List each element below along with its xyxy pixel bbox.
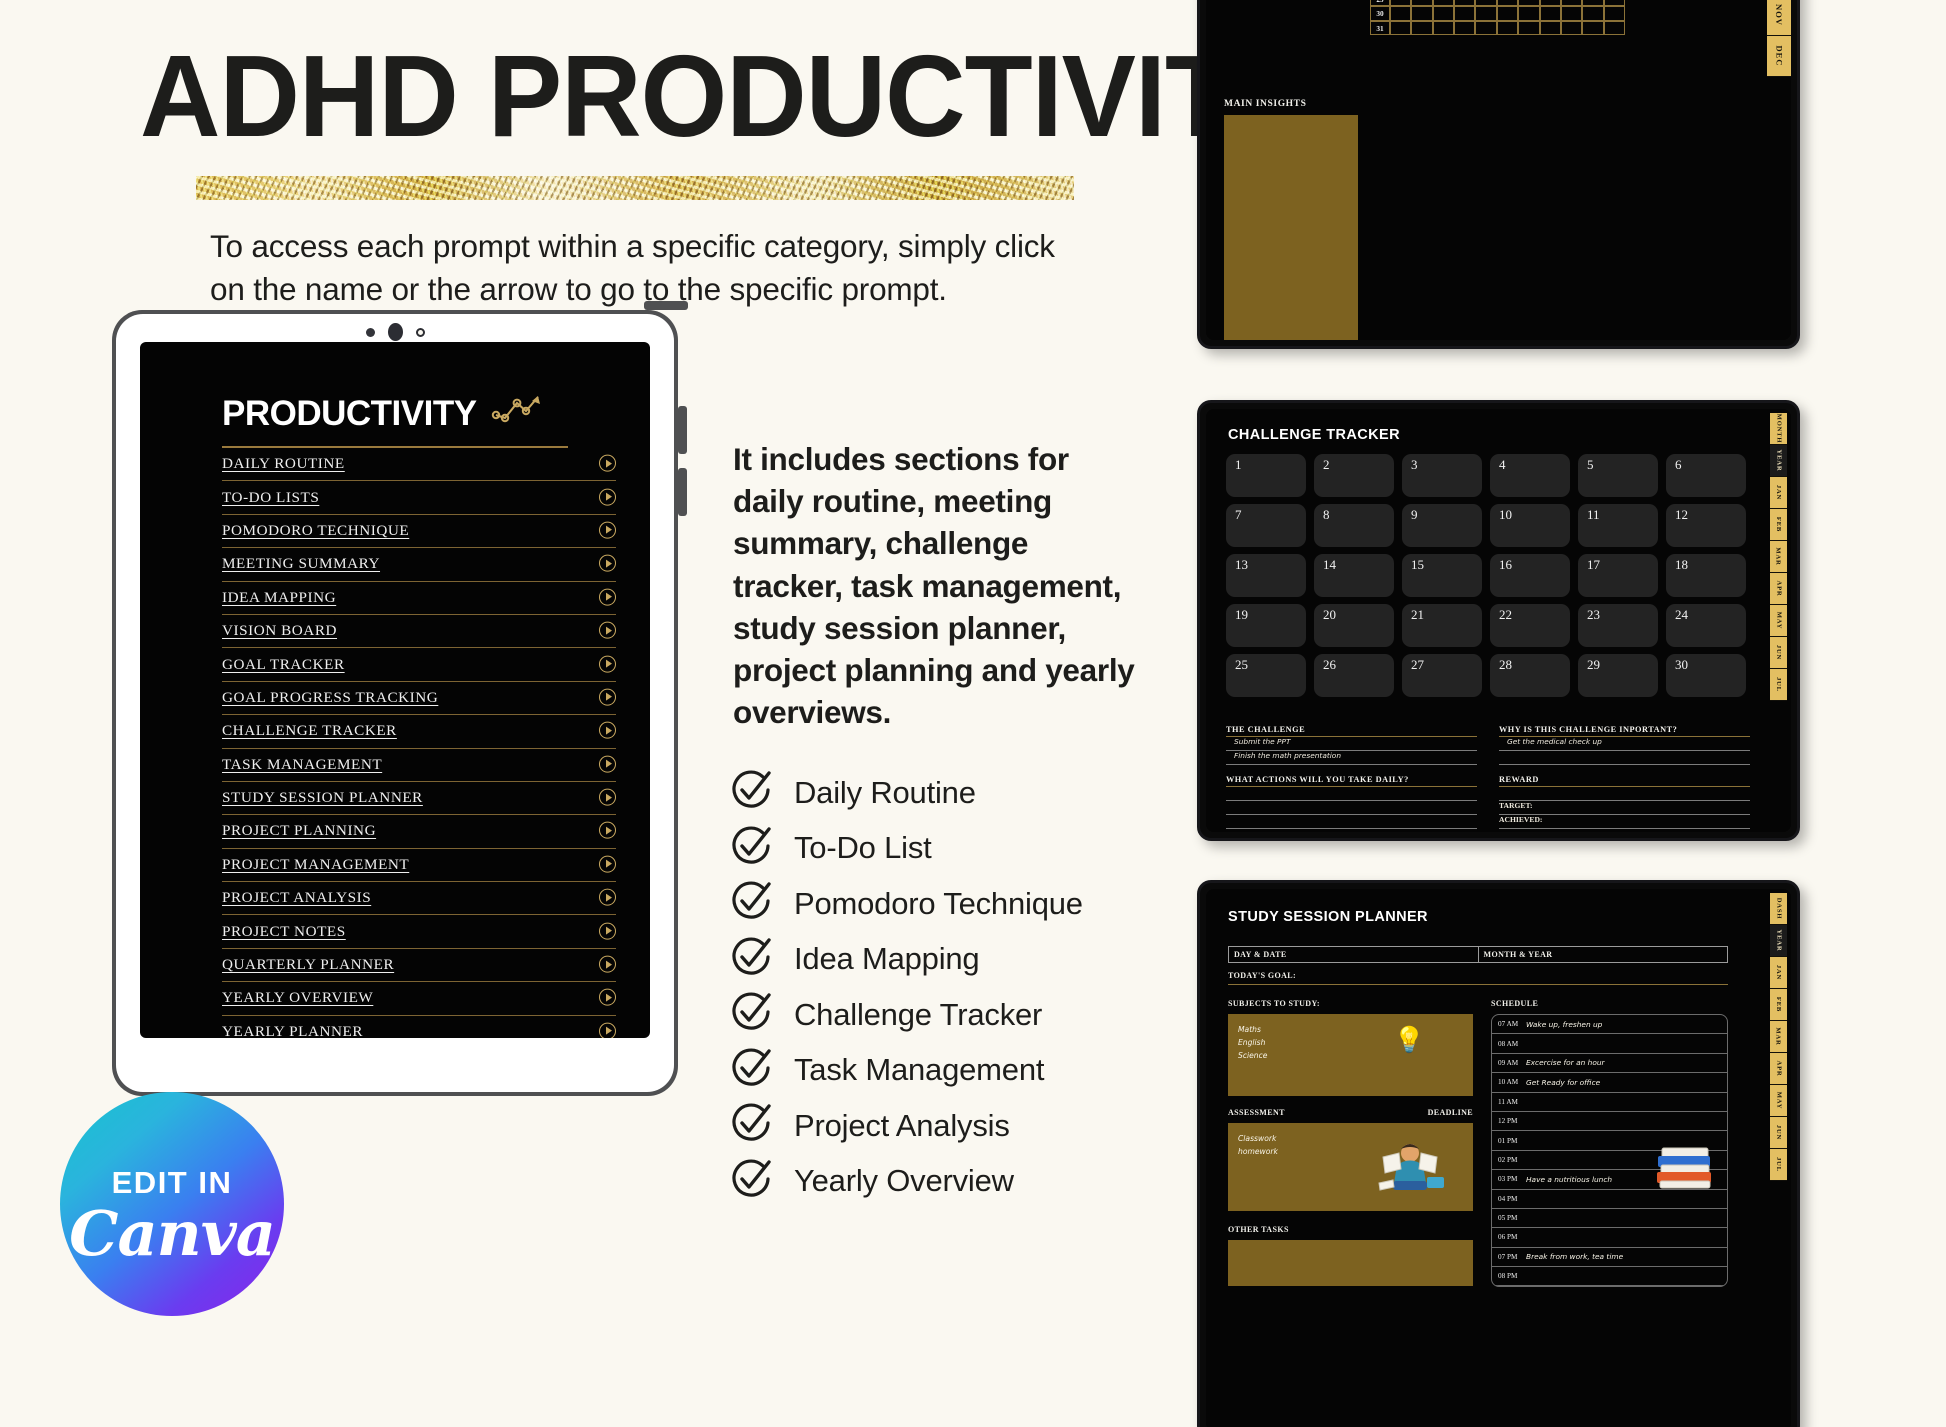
menu-item-project-analysis[interactable]: PROJECT ANALYSIS (222, 882, 616, 915)
challenge-day-cell[interactable]: 19 (1226, 604, 1306, 647)
description-paragraph: It includes sections for daily routine, … (733, 438, 1143, 733)
challenge-tab-label: FEB (1775, 517, 1782, 532)
preview-challenge-tracker: CHALLENGE TRACKER 1234567891011121314151… (1197, 400, 1800, 841)
other-tasks-box[interactable] (1228, 1240, 1473, 1286)
arrow-right-circle-icon[interactable] (599, 588, 616, 605)
tablet-volume-down-button (678, 468, 687, 516)
schedule-time: 09 AM (1492, 1059, 1526, 1067)
grid-cell[interactable] (1454, 6, 1475, 20)
challenge-day-cell[interactable]: 9 (1402, 504, 1482, 547)
menu-item-label: QUARTERLY PLANNER (222, 956, 394, 974)
arrow-right-circle-icon[interactable] (599, 488, 616, 505)
menu-item-label: YEARLY PLANNER (222, 1023, 363, 1038)
arrow-right-circle-icon[interactable] (599, 922, 616, 939)
trending-up-icon (491, 391, 545, 428)
checklist-item: To-Do List (730, 821, 1083, 877)
main-insights-label: MAIN INSIGHTS (1224, 99, 1307, 109)
preview-yearly-overview: MAIN INSIGHTS 45678910111213141516171819… (1197, 0, 1800, 349)
study-tab-dash[interactable]: DASH (1770, 893, 1787, 925)
grid-cell[interactable] (1604, 21, 1625, 35)
schedule-row[interactable]: 12 PM (1492, 1112, 1727, 1131)
menu-item-project-management[interactable]: PROJECT MANAGEMENT (222, 849, 616, 882)
arrow-right-circle-icon[interactable] (599, 722, 616, 739)
spacer (1226, 765, 1477, 775)
daily-actions-line-2[interactable] (1226, 801, 1477, 815)
schedule-row[interactable]: 08 PM (1492, 1267, 1727, 1286)
schedule-row[interactable]: 11 AM (1492, 1093, 1727, 1112)
student-studying-icon (1371, 1131, 1449, 1198)
arrow-right-circle-icon[interactable] (599, 655, 616, 672)
checklist-item: Task Management (730, 1043, 1083, 1099)
challenge-form-columns: THE CHALLENGE Submit the PPT Finish the … (1226, 725, 1750, 832)
menu-item-project-planning[interactable]: PROJECT PLANNING (222, 815, 616, 848)
schedule-row[interactable]: 07 PMBreak from work, tea time (1492, 1248, 1727, 1267)
check-circle-icon (730, 991, 772, 1038)
study-tab-strip: DASHYEARJANFEBMARAPRMAYJUNJUL (1770, 893, 1787, 1427)
why-important-line-1[interactable]: Get the medical check up (1499, 737, 1750, 751)
subjects-list: MathsEnglishScience (1238, 1023, 1463, 1062)
grid-cell[interactable] (1604, 6, 1625, 20)
yearly-grid-row[interactable]: 30 (1370, 6, 1625, 20)
month-tab-dec[interactable]: DEC (1767, 36, 1791, 77)
schedule-activity[interactable]: Break from work, tea time (1526, 1252, 1623, 1261)
schedule-row[interactable]: 08 AM (1492, 1034, 1727, 1053)
grid-cell[interactable] (1433, 21, 1454, 35)
checklist-item-label: Idea Mapping (794, 941, 979, 977)
schedule-activity[interactable]: Have a nutritious lunch (1526, 1175, 1612, 1184)
schedule-row[interactable]: 09 AMExcercise for an hour (1492, 1054, 1727, 1073)
challenge-tab-label: YEAR (1775, 450, 1782, 472)
schedule-time: 11 AM (1492, 1098, 1526, 1106)
challenge-tab-apr[interactable]: APR (1770, 573, 1787, 605)
schedule-time: 07 AM (1492, 1020, 1526, 1028)
challenge-day-cell[interactable]: 5 (1578, 454, 1658, 497)
menu-item-label: DAILY ROUTINE (222, 455, 345, 473)
challenge-tab-label: APR (1775, 581, 1782, 597)
challenge-right-column: WHY IS THIS CHALLENGE INPORTANT? Get the… (1499, 725, 1750, 832)
grid-cell[interactable] (1454, 21, 1475, 35)
challenge-day-cell[interactable]: 7 (1226, 504, 1306, 547)
menu-item-daily-routine[interactable]: DAILY ROUTINE (222, 448, 616, 481)
check-circle-icon (730, 880, 772, 927)
checklist-item-label: Challenge Tracker (794, 997, 1042, 1033)
grid-cell[interactable] (1390, 6, 1411, 20)
challenge-tab-jul[interactable]: JUL (1770, 669, 1787, 701)
checklist-item: Idea Mapping (730, 932, 1083, 988)
spacer (1226, 829, 1477, 832)
sensor-icon (366, 328, 375, 337)
study-right-column: SCHEDULE 07 AMWake up, freshen up08 AM09… (1491, 999, 1728, 1287)
arrow-right-circle-icon[interactable] (599, 856, 616, 873)
grid-cell[interactable] (1475, 6, 1496, 20)
menu-item-label: YEARLY OVERVIEW (222, 989, 373, 1007)
schedule-time: 10 AM (1492, 1078, 1526, 1086)
grid-cell[interactable] (1411, 6, 1432, 20)
poster-canvas: ADHD PRODUCTIVITY To access each prompt … (0, 0, 1946, 1427)
preview-study-screen: STUDY SESSION PLANNER DAY & DATE MONTH &… (1206, 889, 1791, 1427)
menu-item-label: PROJECT NOTES (222, 923, 346, 941)
productivity-menu: DAILY ROUTINETO-DO LISTSPOMODORO TECHNIQ… (140, 448, 650, 1038)
light-sensor-icon (416, 328, 425, 337)
challenge-day-cell[interactable]: 8 (1314, 504, 1394, 547)
menu-item-meeting-summary[interactable]: MEETING SUMMARY (222, 548, 616, 581)
screen-title: PRODUCTIVITY (222, 394, 477, 434)
challenge-tab-jun[interactable]: JUN (1770, 637, 1787, 669)
study-tab-feb[interactable]: FEB (1770, 989, 1787, 1021)
schedule-activity[interactable]: Excercise for an hour (1526, 1058, 1605, 1067)
arrow-right-circle-icon[interactable] (599, 989, 616, 1006)
check-circle-icon (730, 1158, 772, 1205)
assessment-box[interactable]: Classworkhomework (1228, 1123, 1473, 1211)
menu-item-label: PROJECT MANAGEMENT (222, 856, 409, 874)
grid-cell[interactable] (1561, 6, 1582, 20)
arrow-right-circle-icon[interactable] (599, 956, 616, 973)
the-challenge-line-1[interactable]: Submit the PPT (1226, 737, 1477, 751)
the-challenge-label: THE CHALLENGE (1226, 725, 1477, 737)
study-tab-mar[interactable]: MAR (1770, 1021, 1787, 1053)
study-date-row: DAY & DATE MONTH & YEAR (1228, 946, 1728, 963)
study-tab-year[interactable]: YEAR (1770, 925, 1787, 957)
menu-item-label: GOAL TRACKER (222, 656, 345, 674)
menu-item-challenge-tracker[interactable]: CHALLENGE TRACKER (222, 715, 616, 748)
schedule-time: 05 PM (1492, 1214, 1526, 1222)
menu-item-yearly-planner[interactable]: YEARLY PLANNER (222, 1016, 616, 1038)
challenge-day-cell[interactable]: 30 (1666, 654, 1746, 697)
schedule-time: 01 PM (1492, 1137, 1526, 1145)
challenge-tab-label: MAY (1775, 612, 1782, 630)
challenge-day-cell[interactable]: 27 (1402, 654, 1482, 697)
grid-cell[interactable] (1540, 6, 1561, 20)
menu-item-project-notes[interactable]: PROJECT NOTES (222, 915, 616, 948)
page-title: ADHD PRODUCTIVITY (140, 38, 1305, 154)
challenge-day-cell[interactable]: 21 (1402, 604, 1482, 647)
the-challenge-line-2[interactable]: Finish the math presentation (1226, 751, 1477, 765)
grid-cell[interactable] (1518, 6, 1539, 20)
menu-item-label: TO-DO LISTS (222, 489, 319, 507)
challenge-day-cell[interactable]: 17 (1578, 554, 1658, 597)
row-number: 31 (1370, 21, 1390, 35)
grid-cell[interactable] (1561, 21, 1582, 35)
why-important-label: WHY IS THIS CHALLENGE INPORTANT? (1499, 725, 1750, 737)
check-circle-icon (730, 936, 772, 983)
challenge-day-cell[interactable]: 16 (1490, 554, 1570, 597)
month-tab-label: DEC (1774, 45, 1784, 66)
target-label: TARGET: (1499, 801, 1750, 815)
challenge-day-cell[interactable]: 25 (1226, 654, 1306, 697)
preview-challenge-screen: CHALLENGE TRACKER 1234567891011121314151… (1206, 409, 1791, 832)
challenge-tab-year[interactable]: YEAR (1770, 445, 1787, 477)
challenge-day-cell[interactable]: 29 (1578, 654, 1658, 697)
challenge-tab-mar[interactable]: MAR (1770, 541, 1787, 573)
challenge-tab-month[interactable]: MONTH (1770, 413, 1787, 445)
schedule-activity[interactable]: Get Ready for office (1526, 1078, 1600, 1087)
menu-item-study-session-planner[interactable]: STUDY SESSION PLANNER (222, 782, 616, 815)
challenge-day-cell[interactable]: 22 (1490, 604, 1570, 647)
menu-item-label: GOAL PROGRESS TRACKING (222, 689, 438, 707)
study-tab-label: DASH (1775, 898, 1782, 920)
checklist-item-label: Daily Routine (794, 775, 976, 811)
feature-checklist: Daily RoutineTo-Do ListPomodoro Techniqu… (730, 765, 1083, 1209)
checklist-item: Project Analysis (730, 1098, 1083, 1154)
challenge-day-cell[interactable]: 3 (1402, 454, 1482, 497)
schedule-time: 07 PM (1492, 1253, 1526, 1261)
challenge-day-cell[interactable]: 15 (1402, 554, 1482, 597)
menu-item-label: TASK MANAGEMENT (222, 756, 382, 774)
menu-item-quarterly-planner[interactable]: QUARTERLY PLANNER (222, 949, 616, 982)
challenge-tab-label: JUL (1775, 677, 1782, 692)
study-planner-title: STUDY SESSION PLANNER (1228, 909, 1428, 925)
grid-cell[interactable] (1497, 21, 1518, 35)
camera-icon (388, 323, 403, 341)
spacer (1499, 765, 1750, 775)
schedule-row[interactable]: 07 AMWake up, freshen up (1492, 1015, 1727, 1034)
study-tab-label: JAN (1775, 965, 1782, 980)
schedule-time: 08 PM (1492, 1272, 1526, 1280)
menu-item-idea-mapping[interactable]: IDEA MAPPING (222, 582, 616, 615)
challenge-tab-jan[interactable]: JAN (1770, 477, 1787, 509)
grid-cell[interactable] (1411, 21, 1432, 35)
tablet-volume-up-button (678, 406, 687, 454)
grid-cell[interactable] (1497, 6, 1518, 20)
challenge-day-cell[interactable]: 24 (1666, 604, 1746, 647)
arrow-right-circle-icon[interactable] (599, 789, 616, 806)
challenge-day-cell[interactable]: 20 (1314, 604, 1394, 647)
study-tab-apr[interactable]: APR (1770, 1053, 1787, 1085)
reward-label: REWARD (1499, 775, 1750, 787)
challenge-day-cell[interactable]: 18 (1666, 554, 1746, 597)
checklist-item: Pomodoro Technique (730, 876, 1083, 932)
month-tab-strip: FEBMARAPRMAYJUNJULAUGSEPOCTNOVDEC (1767, 0, 1791, 77)
achieved-label: ACHIEVED: (1499, 815, 1750, 829)
month-year-label[interactable]: MONTH & YEAR (1478, 947, 1728, 962)
challenge-day-cell[interactable]: 14 (1314, 554, 1394, 597)
menu-item-label: IDEA MAPPING (222, 589, 336, 607)
challenge-day-cell[interactable]: 12 (1666, 504, 1746, 547)
screen-header: PRODUCTIVITY (140, 394, 650, 434)
checklist-item-label: Yearly Overview (794, 1163, 1014, 1199)
assessment-label: ASSESSMENT (1228, 1108, 1285, 1117)
study-left-column: SUBJECTS TO STUDY: MathsEnglishScience 💡… (1228, 999, 1473, 1286)
menu-item-label: CHALLENGE TRACKER (222, 722, 397, 740)
menu-item-vision-board[interactable]: VISION BOARD (222, 615, 616, 648)
challenge-day-cell[interactable]: 13 (1226, 554, 1306, 597)
menu-item-label: MEETING SUMMARY (222, 555, 380, 573)
checklist-item-label: Pomodoro Technique (794, 886, 1083, 922)
month-tab-nov[interactable]: NOV (1767, 0, 1791, 36)
schedule-row[interactable]: 05 PM (1492, 1209, 1727, 1228)
check-circle-icon (730, 825, 772, 872)
arrow-right-circle-icon[interactable] (599, 689, 616, 706)
menu-item-label: VISION BOARD (222, 622, 337, 640)
menu-item-label: STUDY SESSION PLANNER (222, 789, 423, 807)
deadline-label: DEADLINE (1428, 1108, 1473, 1117)
challenge-day-grid: 1234567891011121314151617181920212223242… (1226, 454, 1746, 697)
menu-item-goal-tracker[interactable]: GOAL TRACKER (222, 648, 616, 681)
checklist-item: Challenge Tracker (730, 987, 1083, 1043)
challenge-tab-strip: MONTHYEARJANFEBMARAPRMAYJUNJUL (1770, 413, 1787, 828)
challenge-day-cell[interactable]: 10 (1490, 504, 1570, 547)
arrow-right-circle-icon[interactable] (599, 755, 616, 772)
day-date-label[interactable]: DAY & DATE (1229, 947, 1478, 962)
tablet-bezel: PRODUCTIVITY DAILY ROUTINETO-DO LIST (116, 314, 674, 1092)
study-tab-label: JUN (1775, 1125, 1782, 1140)
todays-goal-label[interactable]: TODAY'S GOAL: (1228, 971, 1728, 985)
challenge-tracker-title: CHALLENGE TRACKER (1228, 427, 1400, 443)
schedule-row[interactable]: 06 PM (1492, 1228, 1727, 1247)
grid-cell[interactable] (1582, 6, 1603, 20)
main-insights-box (1224, 115, 1358, 340)
daily-actions-label: WHAT ACTIONS WILL YOU TAKE DAILY? (1226, 775, 1477, 787)
other-tasks-label: OTHER TASKS (1228, 1225, 1473, 1234)
assessment-header-row: ASSESSMENT DEADLINE (1228, 1108, 1473, 1117)
daily-actions-line-3[interactable] (1226, 815, 1477, 829)
checklist-item-label: To-Do List (794, 830, 932, 866)
challenge-tab-may[interactable]: MAY (1770, 605, 1787, 637)
tablet-screen: PRODUCTIVITY DAILY ROUTINETO-DO LIST (140, 342, 650, 1038)
challenge-day-cell[interactable]: 1 (1226, 454, 1306, 497)
challenge-tab-label: MAR (1775, 547, 1782, 565)
checklist-item: Daily Routine (730, 765, 1083, 821)
schedule-time: 06 PM (1492, 1233, 1526, 1241)
subject-item[interactable]: Science (1238, 1049, 1463, 1062)
menu-item-label: PROJECT PLANNING (222, 822, 376, 840)
challenge-tab-label: MONTH (1775, 414, 1782, 444)
tablet-mockup: PRODUCTIVITY DAILY ROUTINETO-DO LIST (112, 310, 678, 1096)
challenge-day-cell[interactable]: 26 (1314, 654, 1394, 697)
challenge-day-cell[interactable]: 23 (1578, 604, 1658, 647)
study-tab-jun[interactable]: JUN (1770, 1117, 1787, 1149)
yearly-grid-table: 4567891011121314151617181920212223242526… (1370, 0, 1625, 35)
subject-item[interactable]: English (1238, 1036, 1463, 1049)
canva-badge-line2: Canva (69, 1203, 275, 1265)
grid-cell[interactable] (1518, 21, 1539, 35)
menu-item-goal-progress-tracking[interactable]: GOAL PROGRESS TRACKING (222, 682, 616, 715)
study-tab-jan[interactable]: JAN (1770, 957, 1787, 989)
schedule-time: 04 PM (1492, 1195, 1526, 1203)
intro-paragraph: To access each prompt within a specific … (210, 225, 1070, 312)
study-tab-label: YEAR (1775, 930, 1782, 952)
menu-item-yearly-overview[interactable]: YEARLY OVERVIEW (222, 982, 616, 1015)
canva-badge-line1: EDIT IN (112, 1165, 233, 1201)
challenge-day-cell[interactable]: 11 (1578, 504, 1658, 547)
gold-glitter-divider (196, 176, 1074, 200)
spacer (1499, 829, 1750, 832)
menu-item-task-management[interactable]: TASK MANAGEMENT (222, 749, 616, 782)
schedule-activity[interactable]: Wake up, freshen up (1526, 1020, 1602, 1029)
month-tab-label: NOV (1774, 4, 1784, 26)
study-tab-label: FEB (1775, 997, 1782, 1012)
grid-cell[interactable] (1390, 21, 1411, 35)
arrow-right-circle-icon[interactable] (599, 522, 616, 539)
grid-cell[interactable] (1475, 21, 1496, 35)
grid-cells (1390, 6, 1625, 20)
check-circle-icon (730, 1047, 772, 1094)
books-stack-icon (1652, 1144, 1718, 1195)
subjects-to-study-label: SUBJECTS TO STUDY: (1228, 999, 1473, 1008)
study-tab-label: MAY (1775, 1092, 1782, 1110)
schedule-row[interactable]: 10 AMGet Ready for office (1492, 1073, 1727, 1092)
check-circle-icon (730, 1102, 772, 1149)
yearly-grid-row[interactable]: 31 (1370, 21, 1625, 35)
menu-item-pomodoro-technique[interactable]: POMODORO TECHNIQUE (222, 515, 616, 548)
why-important-line-2[interactable] (1499, 751, 1750, 765)
subjects-box[interactable]: MathsEnglishScience 💡 (1228, 1014, 1473, 1096)
menu-item-label: PROJECT ANALYSIS (222, 889, 371, 907)
study-tab-label: APR (1775, 1061, 1782, 1077)
grid-cell[interactable] (1540, 21, 1561, 35)
daily-actions-line-1[interactable] (1226, 787, 1477, 801)
lightbulb-icon: 💡 (1394, 1028, 1425, 1053)
arrow-right-circle-icon[interactable] (599, 1022, 616, 1038)
tablet-camera-cluster (116, 323, 674, 341)
menu-item-label: POMODORO TECHNIQUE (222, 522, 409, 540)
challenge-day-cell[interactable]: 28 (1490, 654, 1570, 697)
row-number: 30 (1370, 6, 1390, 20)
challenge-day-cell[interactable]: 4 (1490, 454, 1570, 497)
checklist-item-label: Task Management (794, 1052, 1044, 1088)
schedule-time: 08 AM (1492, 1040, 1526, 1048)
preview-study-session-planner: STUDY SESSION PLANNER DAY & DATE MONTH &… (1197, 880, 1800, 1427)
arrow-right-circle-icon[interactable] (599, 555, 616, 572)
challenge-tab-feb[interactable]: FEB (1770, 509, 1787, 541)
check-circle-icon (730, 769, 772, 816)
subject-item[interactable]: Maths (1238, 1023, 1463, 1036)
schedule-time: 03 PM (1492, 1175, 1526, 1183)
challenge-left-column: THE CHALLENGE Submit the PPT Finish the … (1226, 725, 1477, 832)
reward-line[interactable] (1499, 787, 1750, 801)
grid-cell[interactable] (1433, 6, 1454, 20)
tablet-top-button (644, 301, 688, 310)
challenge-tab-label: JUN (1775, 645, 1782, 660)
grid-cell[interactable] (1582, 21, 1603, 35)
arrow-right-circle-icon[interactable] (599, 822, 616, 839)
study-tab-jul[interactable]: JUL (1770, 1149, 1787, 1181)
study-tab-label: MAR (1775, 1027, 1782, 1045)
checklist-item: Yearly Overview (730, 1154, 1083, 1210)
preview-yearly-screen: MAIN INSIGHTS 45678910111213141516171819… (1206, 0, 1791, 340)
arrow-right-circle-icon[interactable] (599, 622, 616, 639)
schedule-time: 02 PM (1492, 1156, 1526, 1164)
grid-cells (1390, 21, 1625, 35)
schedule-label: SCHEDULE (1491, 999, 1728, 1008)
challenge-day-cell[interactable]: 2 (1314, 454, 1394, 497)
study-tab-label: JUL (1775, 1157, 1782, 1172)
challenge-tab-label: JAN (1775, 485, 1782, 500)
study-tab-may[interactable]: MAY (1770, 1085, 1787, 1117)
checklist-item-label: Project Analysis (794, 1108, 1010, 1144)
challenge-day-cell[interactable]: 6 (1666, 454, 1746, 497)
menu-item-to-do-lists[interactable]: TO-DO LISTS (222, 481, 616, 514)
edit-in-canva-badge[interactable]: EDIT IN Canva (60, 1092, 284, 1316)
schedule-time: 12 PM (1492, 1117, 1526, 1125)
arrow-right-circle-icon[interactable] (599, 455, 616, 472)
arrow-right-circle-icon[interactable] (599, 889, 616, 906)
